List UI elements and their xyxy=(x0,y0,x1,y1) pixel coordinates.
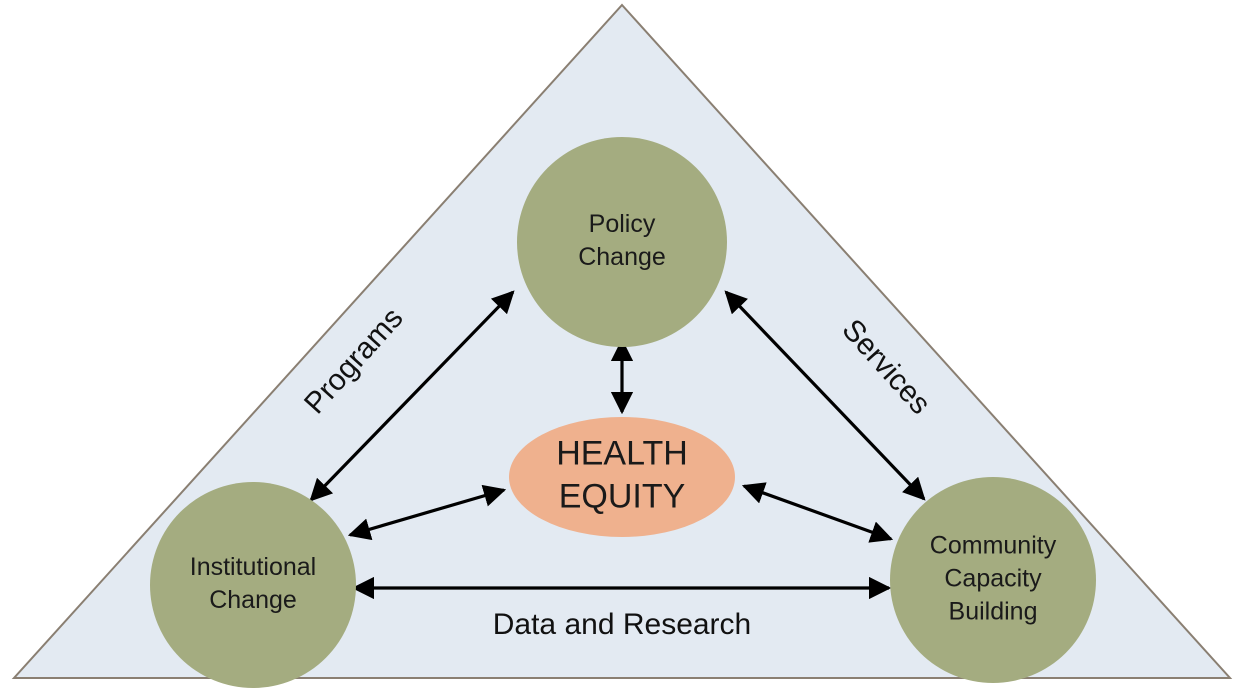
node-label-health-equity: EQUITY xyxy=(559,477,686,515)
node-label-community-capacity-building: Community xyxy=(930,532,1057,560)
node-shape-institutional-change xyxy=(150,482,356,688)
node-label-health-equity: HEALTH xyxy=(556,434,688,472)
node-label-community-capacity-building: Capacity xyxy=(944,565,1042,593)
node-institutional-change[interactable]: InstitutionalChange xyxy=(150,482,356,688)
node-health-equity[interactable]: HEALTHEQUITY xyxy=(509,417,735,537)
node-shape-policy-change xyxy=(517,137,727,347)
node-community-capacity-building[interactable]: CommunityCapacityBuilding xyxy=(890,477,1096,683)
health-equity-framework-diagram: ProgramsServicesData and Research Policy… xyxy=(0,0,1237,696)
edge-label-data-and-research: Data and Research xyxy=(493,608,752,641)
node-label-institutional-change: Institutional xyxy=(190,553,316,581)
node-label-policy-change: Policy xyxy=(589,210,656,238)
node-label-policy-change: Change xyxy=(578,243,666,271)
center-node-group: HEALTHEQUITY xyxy=(509,417,735,537)
diagram-canvas: ProgramsServicesData and Research Policy… xyxy=(0,0,1237,696)
node-label-institutional-change: Change xyxy=(209,586,297,614)
node-policy-change[interactable]: PolicyChange xyxy=(517,137,727,347)
node-label-community-capacity-building: Building xyxy=(949,598,1038,626)
